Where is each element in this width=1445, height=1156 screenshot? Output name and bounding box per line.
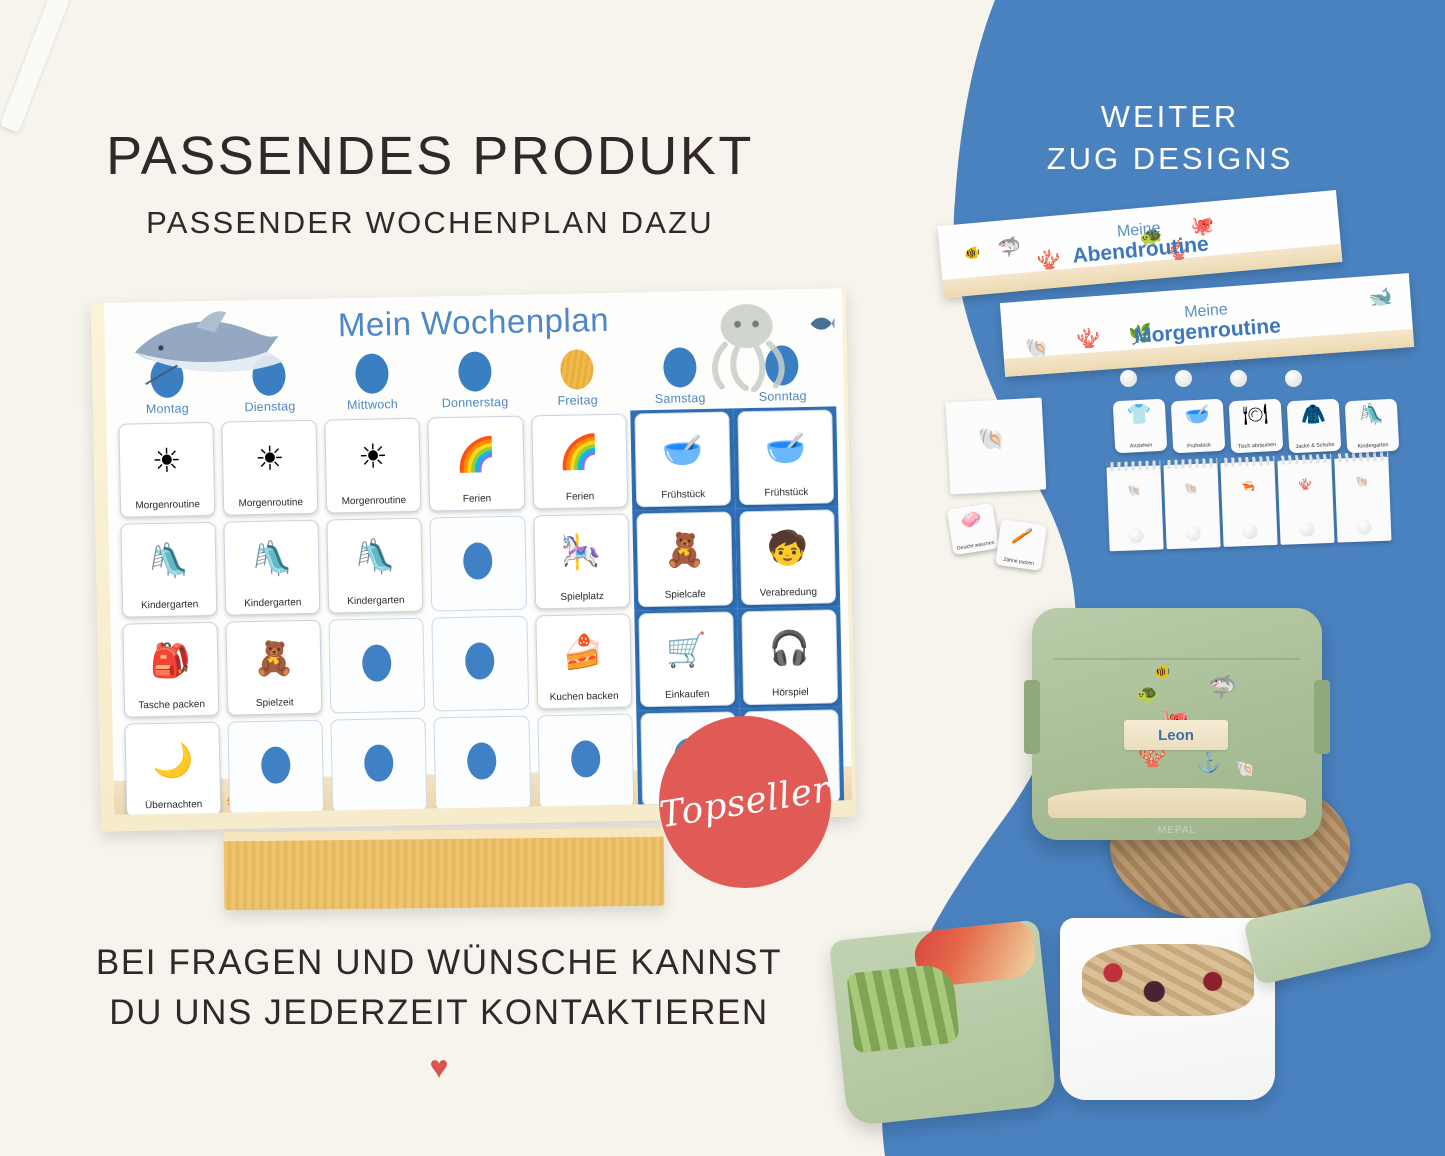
spiral-binding — [1106, 460, 1160, 471]
magnet-dot — [1299, 522, 1315, 538]
routine-card-label: Kindergarten — [1357, 442, 1388, 450]
activity-card[interactable]: ☀Morgenroutine — [325, 418, 422, 514]
activity-icon: 🛝 — [225, 527, 319, 589]
planner-slot-r2-c3[interactable] — [428, 612, 533, 714]
activity-card[interactable]: 🥣Frühstück — [737, 409, 834, 505]
planner-slot-r2-c4[interactable]: 🍰Kuchen backen — [531, 610, 636, 712]
right-panel-title-line1: WEITER — [940, 96, 1400, 138]
activity-icon: 🥣 — [635, 418, 729, 480]
activity-icon: ☀ — [223, 427, 317, 489]
planner-slot-r2-c1[interactable]: 🧸Spielzeit — [222, 617, 327, 719]
shell-icon-page: 🐚 — [977, 426, 1006, 453]
empty-slot-dot — [362, 644, 392, 682]
fish-icon — [808, 312, 834, 335]
routine-card-icon: 🍽 — [1229, 404, 1282, 427]
granola-berries — [1082, 944, 1254, 1016]
empty-slot-card[interactable] — [329, 618, 426, 714]
shell-icon-flipcard: 🐚 — [1184, 482, 1198, 496]
activity-icon: 🎧 — [742, 616, 836, 678]
planner-day-column-donnerstag: Donnerstag — [423, 351, 527, 411]
planner-slot-r0-c4[interactable]: 🌈Ferien — [527, 410, 632, 512]
activity-card[interactable]: 🥣Frühstück — [634, 411, 731, 507]
activity-card[interactable]: 🛝Kindergarten — [327, 518, 424, 614]
routine-card-label: Frühstück — [1187, 442, 1211, 449]
planner-slot-r2-c6[interactable]: 🎧Hörspiel — [737, 606, 842, 708]
magnet-dot — [1285, 370, 1302, 387]
spiral-binding — [1163, 458, 1217, 469]
activity-card[interactable]: 🌙Übernachten — [124, 722, 221, 815]
activity-card-label: Einkaufen — [665, 689, 710, 701]
spiral-flipcard[interactable]: 🐚 — [1163, 463, 1220, 549]
magnet-dot — [1356, 519, 1372, 535]
activity-card-label: Kindergarten — [347, 595, 404, 607]
activity-card[interactable]: 🛝Kindergarten — [120, 522, 217, 618]
routine-card[interactable]: 🥣Frühstück — [1171, 399, 1226, 454]
spiral-binding — [1277, 454, 1331, 465]
day-label: Samstag — [629, 390, 732, 406]
magnet-dot — [1175, 370, 1192, 387]
soap-icon: 🧼 — [947, 507, 996, 534]
planner-slot-r1-c4[interactable]: 🎠Spielplatz — [529, 510, 634, 612]
shell-icon-flipcard: 🐚 — [1355, 475, 1369, 489]
spiral-flipcard[interactable]: 🦐 — [1220, 461, 1277, 547]
activity-icon: 🧸 — [637, 518, 731, 580]
spiral-flipcard[interactable]: 🪸 — [1277, 459, 1334, 545]
activity-card[interactable]: 🍰Kuchen backen — [535, 614, 632, 710]
day-label: Montag — [116, 401, 219, 417]
loose-card-label: Zähne putzen — [1003, 557, 1034, 567]
empty-slot-card[interactable] — [537, 713, 634, 809]
activity-icon: 🛝 — [122, 529, 216, 591]
routine-card[interactable]: 🍽Tisch abräumen — [1229, 399, 1284, 454]
fork-utensil — [0, 0, 72, 133]
page-subtitle: PASSENDER WOCHENPLAN DAZU — [0, 205, 860, 241]
loose-card-gesicht-waschen: 🧼 Gesicht waschen — [947, 503, 1000, 556]
activity-card-label: Kuchen backen — [550, 691, 619, 703]
activity-icon: ☀ — [120, 429, 214, 491]
right-panel-title-line2: ZUG DESIGNS — [940, 138, 1400, 180]
activity-card-label: Spielcafe — [665, 589, 706, 601]
routine-card[interactable]: 👕Anziehen — [1113, 399, 1168, 454]
lunchbox: 🦈 🐢 🐙 🪸 ⚓ 🐚 🐠 Leon MEPAL — [1032, 608, 1322, 840]
day-label: Donnerstag — [424, 395, 527, 411]
magnet-dot — [1128, 528, 1144, 544]
activity-card[interactable]: 🛒Einkaufen — [638, 611, 735, 707]
planner-slot-r3-c0[interactable]: 🌙Übernachten — [120, 719, 225, 815]
empty-slot-card[interactable] — [432, 616, 529, 712]
day-marker-donnerstag[interactable] — [458, 351, 492, 392]
activity-card-label: Ferien — [566, 491, 595, 503]
loose-card-zaehne-putzen: 🪥 Zähne putzen — [995, 519, 1047, 571]
octopus-icon — [698, 299, 796, 393]
planner-slot-r2-c5[interactable]: 🛒Einkaufen — [634, 608, 739, 710]
planner-slot-r0-c3[interactable]: 🌈Ferien — [424, 413, 529, 515]
anchor-icon-lunchbox: ⚓ — [1196, 750, 1221, 775]
activity-card[interactable]: 🌈Ferien — [531, 414, 628, 510]
routine-page-pack: 🐚 — [946, 398, 1047, 495]
empty-slot-dot — [465, 642, 495, 680]
planner-slot-r0-c1[interactable]: ☀Morgenroutine — [217, 417, 322, 519]
day-marker-mittwoch[interactable] — [355, 353, 389, 394]
day-marker-freitag[interactable] — [560, 349, 594, 390]
planner-day-column-mittwoch: Mittwoch — [320, 353, 424, 413]
fish-icon-lunchbox: 🐠 — [1154, 664, 1170, 680]
activity-icon: 🥣 — [738, 416, 832, 478]
activity-icon: 🍰 — [536, 621, 630, 683]
empty-slot-dot — [463, 542, 493, 580]
activity-card-label: Spielzeit — [256, 697, 294, 709]
topseller-badge-label: Topseller — [657, 768, 833, 835]
cucumber-slices — [846, 963, 960, 1054]
day-label: Mittwoch — [321, 397, 424, 413]
routine-card-icon: 🥣 — [1171, 404, 1224, 427]
activity-icon: 🛒 — [639, 618, 733, 680]
planner-slot-r2-c2[interactable] — [325, 615, 430, 717]
empty-slot-card[interactable] — [331, 718, 428, 814]
shell-icon-lunchbox: 🐚 — [1236, 760, 1255, 778]
activity-card-label: Frühstück — [661, 489, 705, 501]
activity-icon: 🛝 — [328, 525, 422, 587]
planner-slot-r1-c6[interactable]: 🧒Verabredung — [735, 506, 840, 608]
planner-slot-r3-c4[interactable] — [533, 710, 638, 812]
activity-icon: 🧒 — [740, 516, 834, 578]
contact-cta-block: BEI FRAGEN UND WÜNSCHE KANNST DU UNS JED… — [0, 938, 878, 1083]
activity-card-label: Kindergarten — [141, 599, 198, 611]
cta-line-2: DU UNS JEDERZEIT KONTAKTIEREN — [0, 988, 878, 1038]
magnet-dot — [1230, 370, 1247, 387]
activity-card[interactable]: 🧸Spielzeit — [226, 620, 323, 716]
shell-icon-flipcard: 🐚 — [1127, 484, 1141, 498]
routine-card-row: 👕Anziehen🥣Frühstück🍽Tisch abräumen🧥Jacke… — [1114, 400, 1398, 452]
day-label: Dienstag — [219, 399, 322, 415]
toothbrush-icon: 🪥 — [998, 523, 1046, 549]
magnet-dot — [1185, 526, 1201, 542]
shark-icon — [126, 305, 298, 386]
planner-slot-r1-c5[interactable]: 🧸Spielcafe — [632, 508, 737, 610]
activity-icon: 🌙 — [126, 729, 220, 791]
shell-icon-flipcard: 🦐 — [1241, 480, 1255, 494]
activity-card[interactable]: ☀Morgenroutine — [118, 422, 215, 518]
activity-card[interactable]: 🧒Verabredung — [739, 509, 836, 605]
planner-day-column-freitag: Freitag — [525, 348, 629, 408]
planner-slot-r3-c3[interactable] — [430, 712, 535, 814]
routine-card-icon: 🧥 — [1287, 404, 1340, 427]
routine-card-label: Jacke & Schuhe — [1295, 442, 1334, 450]
planner-slot-r3-c1[interactable] — [224, 717, 329, 815]
spiral-flipcard-row: 🐚🐚🦐🪸🐚 — [1106, 457, 1391, 552]
activity-card-label: Übernachten — [145, 799, 202, 811]
shell-icon-flipcard: 🪸 — [1298, 478, 1312, 492]
activity-card-label: Tasche packen — [138, 699, 205, 711]
topseller-badge: Topseller — [659, 716, 831, 888]
activity-card-label: Morgenroutine — [342, 495, 407, 507]
food-container-green — [829, 920, 1057, 1127]
empty-slot-card[interactable] — [434, 716, 531, 812]
planner-slot-r0-c2[interactable]: ☀Morgenroutine — [321, 415, 426, 517]
lunchbox-lid-line — [1054, 658, 1300, 660]
empty-slot-dot — [364, 744, 394, 782]
magnet-dots-row — [1120, 370, 1302, 387]
routine-card[interactable]: 🛝Kindergarten — [1345, 399, 1400, 454]
planner-slot-r1-c2[interactable]: 🛝Kindergarten — [323, 515, 428, 617]
magnet-dot — [1242, 524, 1258, 540]
activity-icon: 🌈 — [532, 421, 626, 483]
planner-slot-r2-c0[interactable]: 🎒Tasche packen — [118, 619, 223, 721]
activity-card-label: Spielplatz — [560, 591, 604, 603]
activity-card[interactable]: 🎒Tasche packen — [122, 622, 219, 718]
activity-card[interactable]: 🌈Ferien — [428, 416, 525, 512]
activity-card[interactable]: 🎠Spielplatz — [533, 514, 630, 610]
lunchbox-name-label: Leon — [1124, 720, 1228, 750]
routine-card-icon: 👕 — [1113, 404, 1166, 427]
left-headline-block: PASSENDES PRODUKT PASSENDER WOCHENPLAN D… — [0, 128, 860, 241]
empty-slot-card[interactable] — [228, 720, 325, 815]
activity-icon: ☀ — [326, 425, 420, 487]
page-title: PASSENDES PRODUKT — [0, 128, 860, 185]
activity-icon: 🎠 — [534, 521, 628, 583]
activity-card-label: Hörspiel — [772, 687, 809, 699]
lunchbox-clip-right — [1314, 680, 1330, 754]
activity-card-label: Kindergarten — [244, 597, 301, 609]
routine-card-label: Tisch abräumen — [1238, 442, 1277, 450]
spiral-binding — [1220, 456, 1274, 467]
planner-slot-r0-c5[interactable]: 🥣Frühstück — [630, 408, 735, 510]
day-label: Freitag — [526, 392, 629, 408]
empty-slot-card[interactable] — [430, 516, 527, 612]
planner-slot-r0-c0[interactable]: ☀Morgenroutine — [114, 419, 219, 521]
routine-card-icon: 🛝 — [1345, 404, 1398, 427]
routine-card[interactable]: 🧥Jacke & Schuhe — [1287, 399, 1342, 454]
planner-slot-r1-c1[interactable]: 🛝Kindergarten — [219, 517, 324, 619]
activity-icon: 🎒 — [124, 629, 218, 691]
magnet-dot — [1120, 370, 1137, 387]
cta-line-1: BEI FRAGEN UND WÜNSCHE KANNST — [0, 938, 878, 988]
activity-card-label: Verabredung — [760, 587, 817, 599]
routine-card-label: Anziehen — [1130, 442, 1153, 449]
planner-slot-r0-c6[interactable]: 🥣Frühstück — [733, 406, 838, 508]
spiral-binding — [1334, 452, 1388, 463]
right-panel-title: WEITER ZUG DESIGNS — [940, 96, 1400, 180]
activity-card-label: Frühstück — [764, 487, 808, 499]
empty-slot-dot — [571, 740, 601, 778]
activity-card[interactable]: 🛝Kindergarten — [224, 520, 321, 616]
spiral-flipcard[interactable]: 🐚 — [1334, 457, 1391, 543]
lunchbox-brand: MEPAL — [1158, 825, 1196, 836]
activity-card-label: Ferien — [463, 493, 492, 505]
shark-icon-lunchbox: 🦈 — [1208, 674, 1237, 701]
empty-slot-dot — [467, 742, 497, 780]
activity-icon: 🌈 — [429, 423, 523, 485]
lunchbox-sand-decal — [1048, 788, 1306, 818]
heart-icon: ♥ — [0, 1051, 878, 1083]
lunchbox-clip-left — [1024, 680, 1040, 754]
spiral-flipcard[interactable]: 🐚 — [1106, 465, 1163, 551]
activity-card[interactable]: ☀Morgenroutine — [222, 420, 319, 516]
wooden-stand — [224, 828, 665, 911]
food-container-white — [1060, 918, 1275, 1100]
activity-card-label: Morgenroutine — [135, 499, 200, 511]
activity-card[interactable]: 🧸Spielcafe — [636, 511, 733, 607]
activity-card[interactable]: 🎧Hörspiel — [741, 609, 838, 705]
planner-slot-r1-c3[interactable] — [426, 513, 531, 615]
activity-card-label: Morgenroutine — [238, 497, 303, 509]
activity-icon: 🧸 — [227, 627, 321, 689]
empty-slot-dot — [261, 746, 291, 784]
planner-slot-r1-c0[interactable]: 🛝Kindergarten — [116, 519, 221, 621]
day-marker-samstag[interactable] — [663, 347, 697, 388]
turtle-icon-lunchbox: 🐢 — [1136, 684, 1158, 705]
planner-slot-r3-c2[interactable] — [327, 715, 432, 815]
